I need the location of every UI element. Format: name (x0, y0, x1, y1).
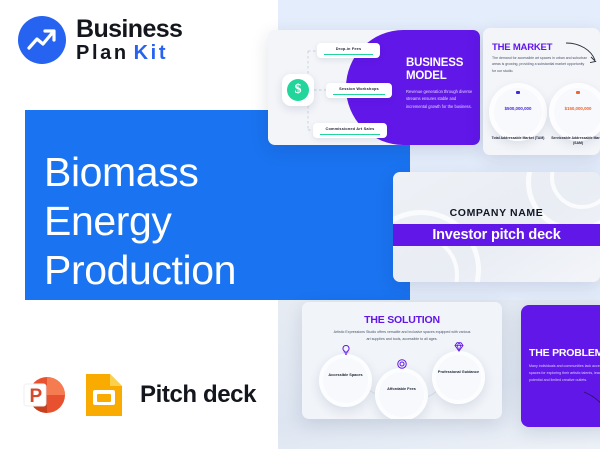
hero-title-line1: Biomass (44, 148, 364, 197)
brand-name-line1: Business (76, 17, 182, 42)
business-model-item-label: Drop-in Fees (317, 46, 380, 51)
curved-arrow-icon (583, 391, 600, 413)
market-metric-circle: $500,000,000 (489, 83, 547, 141)
brand-name-kit: Kit (134, 42, 168, 64)
slide-the-problem[interactable]: THE PROBLEM Many individuals and communi… (521, 305, 600, 427)
investor-subtitle: Investor pitch deck (432, 227, 560, 243)
market-metric-caption: Serviceable Addressable Market (SAM) (549, 136, 600, 147)
business-model-item-label: Session Workshops (326, 86, 392, 91)
format-badges: P Pitch deck (20, 371, 256, 419)
solution-node-label: Professional Guidance (432, 370, 485, 376)
google-slides-icon (81, 371, 127, 419)
business-model-title-line2: MODEL (406, 70, 474, 83)
market-metric-value: $150,000,000 (549, 106, 600, 111)
hero-title-line2: Energy (44, 197, 364, 246)
solution-node-label: Affordable Fees (375, 387, 428, 393)
solution-node-label: Accessible Spaces (319, 373, 372, 379)
company-name: COMPANY NAME (393, 207, 600, 219)
slide-the-market[interactable]: THE MARKET The demand for accessible art… (483, 28, 600, 155)
slide-investor-pitch-deck[interactable]: COMPANY NAME Investor pitch deck (393, 172, 600, 282)
powerpoint-icon: P (20, 371, 68, 419)
lightbulb-icon (340, 344, 352, 356)
business-model-item: Session Workshops (326, 83, 392, 98)
curved-arrow-icon (564, 40, 598, 66)
business-model-item-label: Commissioned Art Sales (313, 126, 387, 131)
brand-logo: Business PlanKit (18, 16, 182, 64)
svg-text:P: P (30, 386, 43, 407)
preview-canvas: Business PlanKit Biomass Energy Producti… (0, 0, 600, 449)
slide-business-model[interactable]: $ Drop-in Fees Session Workshops Commiss… (268, 30, 480, 145)
solution-node: Professional Guidance (432, 351, 485, 404)
market-metric-circle: $150,000,000 (549, 83, 600, 141)
market-title: THE MARKET (492, 42, 552, 53)
market-metric-dot (516, 91, 519, 94)
business-model-text-block: BUSINESS MODEL Revenue generation throug… (406, 57, 474, 110)
dollar-icon: $ (282, 74, 314, 106)
investor-subtitle-bar: Investor pitch deck (393, 224, 600, 246)
brand-name-plan: Plan (76, 42, 129, 64)
business-model-item: Drop-in Fees (317, 43, 380, 58)
hero-title: Biomass Energy Production (44, 148, 364, 294)
solution-node: Accessible Spaces (319, 354, 372, 407)
market-metric-dot (576, 91, 579, 94)
problem-description: Many individuals and communities lack ac… (529, 363, 600, 383)
business-model-title-line1: BUSINESS (406, 57, 474, 70)
market-metric-value: $500,000,000 (489, 106, 547, 111)
growth-arrow-icon (18, 16, 66, 64)
business-model-item: Commissioned Art Sales (313, 123, 387, 138)
problem-title: THE PROBLEM (529, 347, 600, 359)
diamond-icon (453, 341, 465, 353)
business-model-description: Revenue generation through diverse strea… (406, 88, 474, 109)
solution-node: Affordable Fees (375, 368, 428, 419)
slide-the-solution[interactable]: THE SOLUTION Artistic Expressions Studio… (302, 302, 502, 419)
gem-circle-icon (396, 358, 408, 370)
hero-title-line3: Production (44, 246, 364, 295)
format-label: Pitch deck (140, 381, 256, 409)
market-metric-caption: Total Addressable Market (TAM) (489, 136, 547, 141)
